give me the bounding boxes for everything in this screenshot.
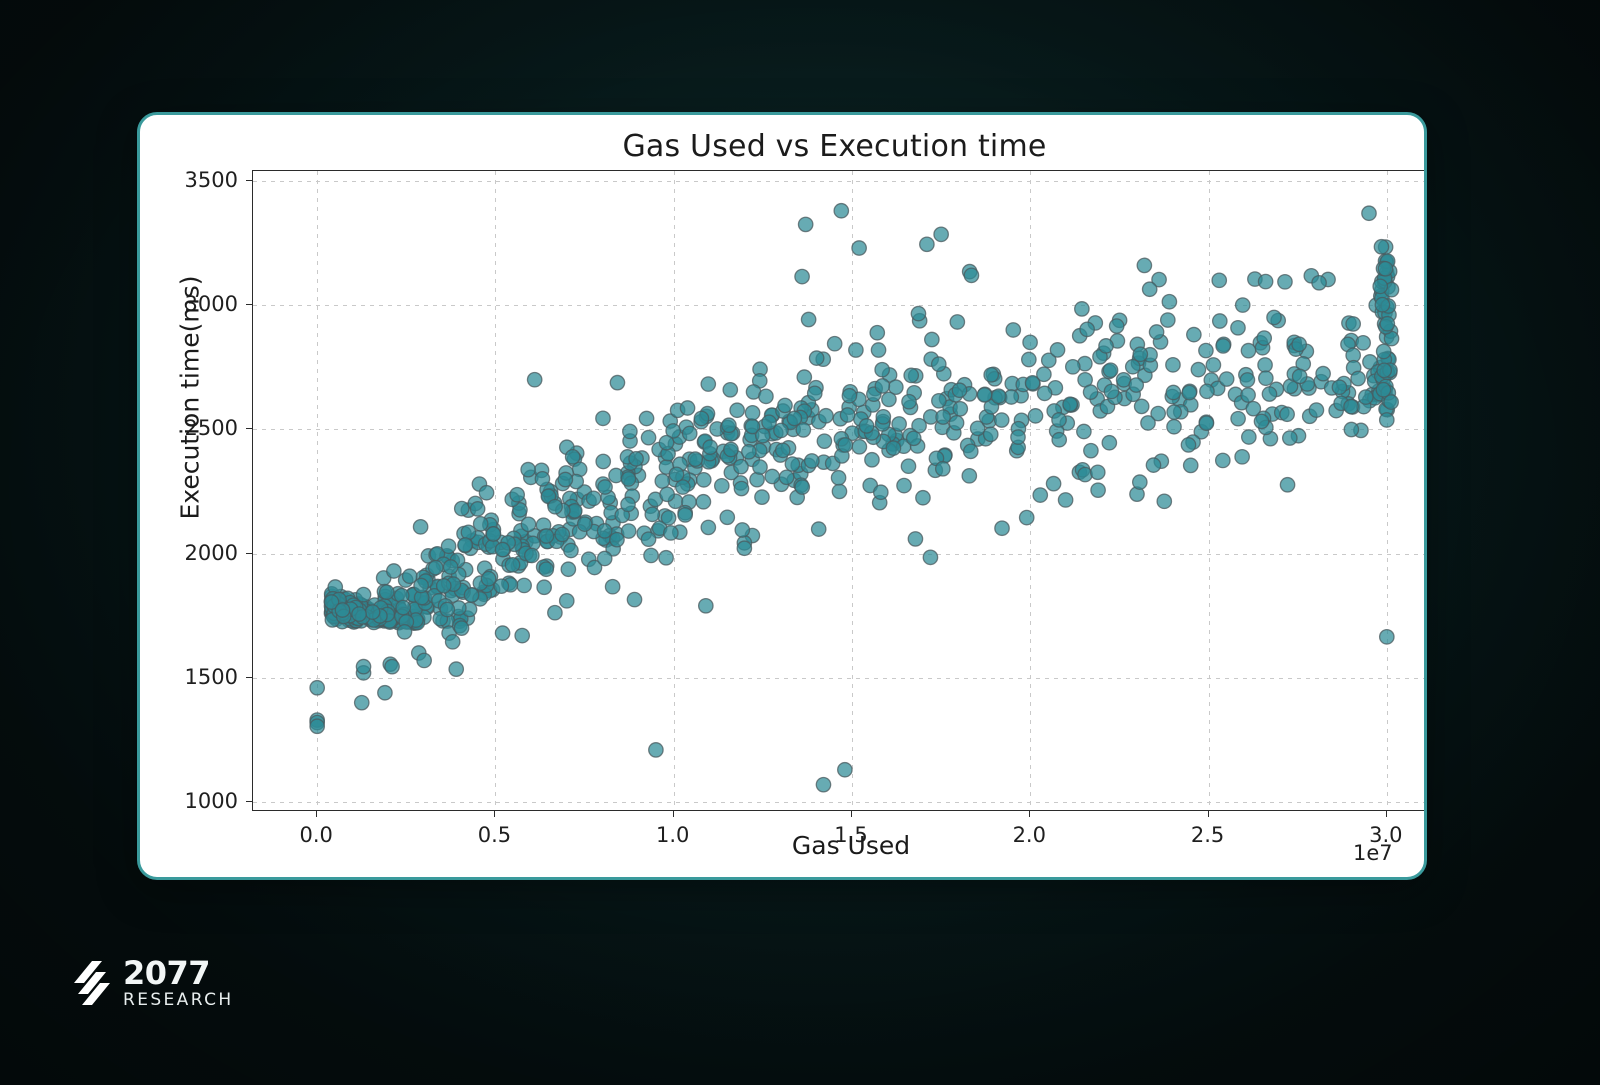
y-tick-label: 1000 xyxy=(142,789,238,813)
y-tick-mark xyxy=(246,677,252,678)
scatter-series xyxy=(253,171,1427,811)
x-tick-mark xyxy=(1386,811,1387,817)
logo-subtitle: RESEARCH xyxy=(123,992,234,1009)
y-tick-mark xyxy=(246,180,252,181)
x-tick-mark xyxy=(851,811,852,817)
chart-card: Gas Used vs Execution time 0.00.51.01.52… xyxy=(137,112,1427,880)
y-tick-mark xyxy=(246,428,252,429)
y-axis-label: Execution time(ms) xyxy=(176,138,205,658)
plot-area xyxy=(252,170,1427,811)
brand-logo: 2077 RESEARCH xyxy=(70,957,234,1009)
x-tick-mark xyxy=(494,811,495,817)
x-tick-mark xyxy=(673,811,674,817)
scatter-points-layer xyxy=(253,171,1427,810)
y-tick-mark xyxy=(246,304,252,305)
logo-bars-icon xyxy=(70,959,110,1007)
x-axis-offset-text: 1e7 xyxy=(1353,841,1393,865)
y-tick-mark xyxy=(246,553,252,554)
x-tick-mark xyxy=(316,811,317,817)
x-axis-label: Gas Used xyxy=(252,831,1427,860)
chart-title: Gas Used vs Execution time xyxy=(140,129,1424,164)
y-tick-label: 1500 xyxy=(142,665,238,689)
x-tick-mark xyxy=(1029,811,1030,817)
y-tick-mark xyxy=(246,801,252,802)
matplotlib-figure: Gas Used vs Execution time 0.00.51.01.52… xyxy=(140,115,1424,877)
x-tick-mark xyxy=(1208,811,1209,817)
logo-text: 2077 RESEARCH xyxy=(123,957,234,1009)
logo-title: 2077 xyxy=(123,957,234,989)
